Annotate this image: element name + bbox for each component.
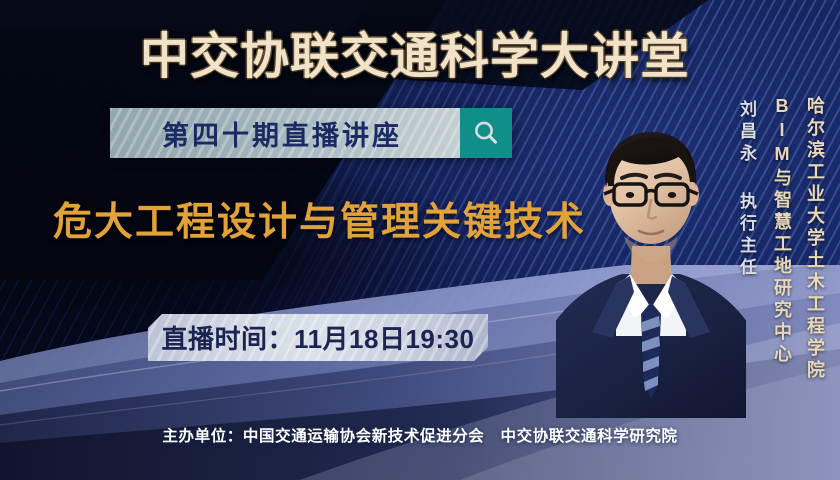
webinar-poster: 中交协联交通科学大讲堂 第四十期直播讲座 危大工程设计与管理关键技术 直播时间：… (0, 0, 840, 480)
broadcast-time-label: 直播时间：11月18日19:30 (162, 319, 475, 356)
episode-label: 第四十期直播讲座 (162, 114, 408, 153)
organizers-footer: 主办单位：中国交通运输协会新技术促进分会 中交协联交通科学研究院 (0, 424, 840, 446)
speaker-portrait (556, 86, 746, 418)
speaker-research-center: BIM与智慧工地研究中心 (769, 96, 795, 366)
search-button[interactable] (460, 108, 512, 158)
episode-label-container: 第四十期直播讲座 (110, 108, 460, 158)
episode-bar: 第四十期直播讲座 (110, 108, 512, 158)
topic-title: 危大工程设计与管理关键技术 (53, 191, 586, 247)
speaker-role: 执行主任 (734, 192, 759, 280)
broadcast-time-badge: 直播时间：11月18日19:30 (148, 314, 488, 361)
search-icon (471, 118, 501, 148)
speaker-organization: 哈尔滨工业大学土木工程学院 (802, 96, 828, 382)
page-title: 中交协联交通科学大讲堂 (140, 17, 690, 88)
speaker-name: 刘昌永 (734, 100, 759, 166)
